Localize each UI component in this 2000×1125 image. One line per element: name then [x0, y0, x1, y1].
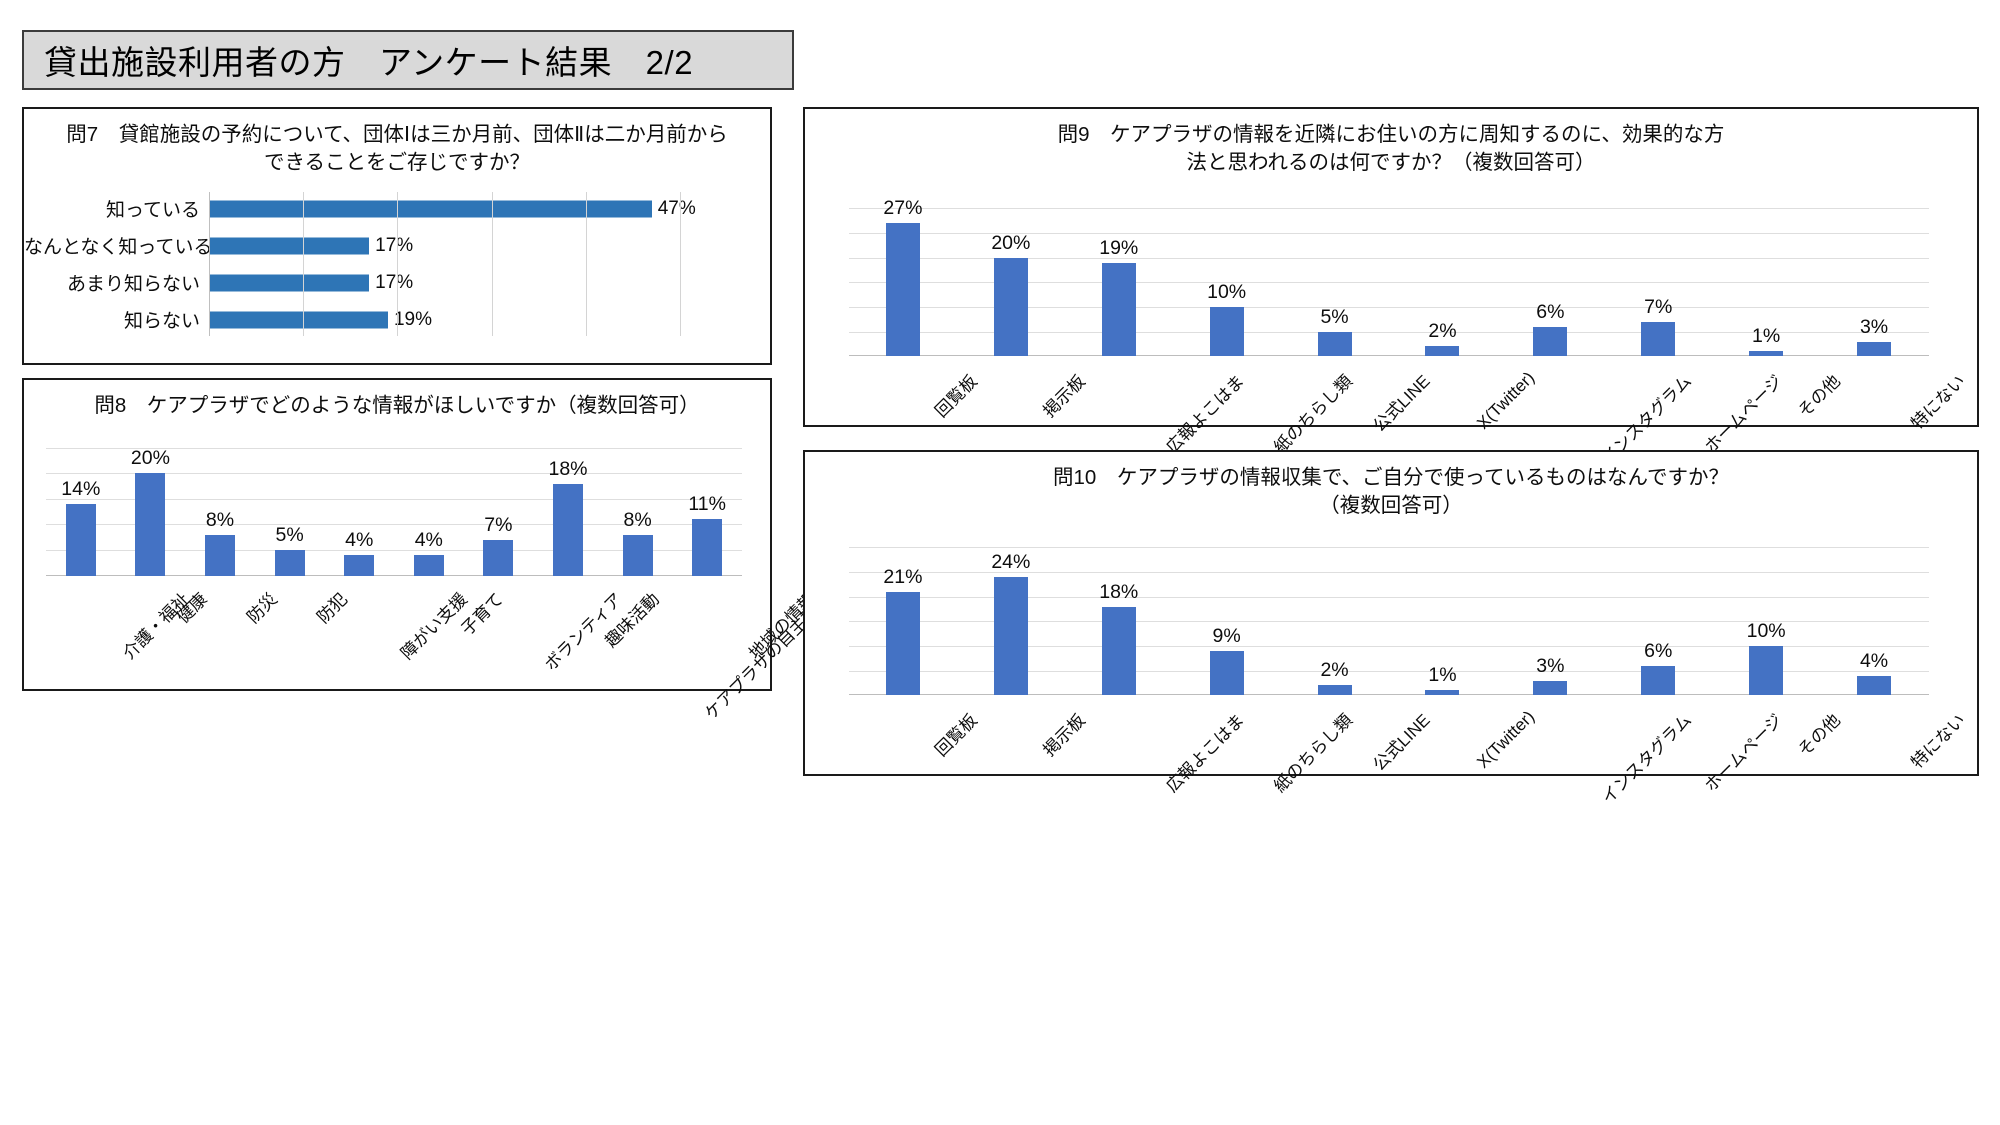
bar-value-label: 8% — [206, 509, 234, 532]
bar-track: 17% — [209, 227, 770, 264]
bar-category-label: ホームページ — [1698, 707, 1787, 796]
bar-category-label: 特にない — [1904, 368, 1970, 434]
chart-bar — [1102, 263, 1136, 357]
chart-bar-column: 10% — [1712, 547, 1820, 695]
bar-value-label: 19% — [1099, 237, 1138, 260]
page-title: 貸出施設利用者の方 アンケート結果 2/2 — [24, 36, 693, 84]
bar-value-label: 18% — [548, 458, 587, 481]
chart-bar-column: 10% — [1173, 208, 1281, 356]
bar-value-label: 3% — [1860, 316, 1888, 339]
bar-value-label: 4% — [345, 529, 373, 552]
chart-bar-column: 9% — [1173, 547, 1281, 695]
bar-value-label: 20% — [131, 447, 170, 470]
bar-value-label: 8% — [624, 509, 652, 532]
bar-category-label: X(Twitter) — [1474, 707, 1540, 773]
chart-bar — [275, 550, 305, 576]
gridline — [397, 192, 398, 336]
bar-category-label: X(Twitter) — [1474, 368, 1540, 434]
bar-category-label: 特にない — [1904, 707, 1970, 773]
bar-value-label: 6% — [1536, 301, 1564, 324]
bar-category-label: 広報よこはま — [1159, 707, 1249, 797]
bar-category-label: 紙のちらし類 — [1267, 707, 1357, 797]
bar-value-label: 3% — [1536, 655, 1564, 678]
chart-panel-q9: 問9 ケアプラザの情報を近隣にお住いの方に周知するのに、効果的な方 法と思われる… — [803, 107, 1979, 427]
chart-bar — [1318, 685, 1352, 695]
chart-bar-column: 4% — [324, 448, 394, 576]
chart-bar — [1102, 607, 1136, 696]
bar-value-label: 17% — [375, 235, 413, 257]
chart-bar-column: 18% — [533, 448, 603, 576]
chart-plot-q10: 21%24%18%9%2%1%3%6%10%4% — [849, 547, 1929, 695]
chart-bar-column: 19% — [1065, 208, 1173, 356]
chart-bar-column: 14% — [46, 448, 116, 576]
chart-bar-column: 8% — [185, 448, 255, 576]
chart-bar — [1533, 327, 1567, 357]
bar-value-label: 4% — [1860, 650, 1888, 673]
gridline — [680, 192, 681, 336]
bar-value-label: 4% — [415, 529, 443, 552]
bar-value-label: 21% — [883, 566, 922, 589]
chart-title-q8: 問8 ケアプラザでどのような情報がほしいですか（複数回答可） — [24, 380, 770, 420]
chart-plot-q8: 14%20%8%5%4%4%7%18%8%11% — [46, 448, 742, 576]
bar-category-label: 防犯 — [310, 586, 352, 628]
bar-category-label: その他 — [1791, 368, 1845, 422]
bar-track: 17% — [209, 264, 770, 301]
bar-category-label: その他 — [1791, 707, 1845, 761]
chart-panel-q7: 問7 貸館施設の予約について、団体Ⅰは三か月前、団体Ⅱは二か月前から できること… — [22, 107, 772, 365]
chart-bar-column: 5% — [1281, 208, 1389, 356]
chart-bar — [1857, 676, 1891, 696]
chart-title-q7: 問7 貸館施設の予約について、団体Ⅰは三か月前、団体Ⅱは二か月前から できること… — [24, 109, 770, 176]
chart-bar — [135, 473, 165, 575]
chart-bar-column: 7% — [1604, 208, 1712, 356]
chart-bar — [692, 519, 722, 575]
chart-bar — [483, 540, 513, 576]
chart-bar-column: 3% — [1820, 208, 1928, 356]
bar-value-label: 7% — [1644, 296, 1672, 319]
chart-bar — [1641, 666, 1675, 696]
bar-value-label: 9% — [1213, 625, 1241, 648]
chart-bar — [1210, 651, 1244, 695]
chart-plot-q7: 知っている47%なんとなく知っている17%あまり知らない17%知らない19% — [24, 190, 770, 338]
bar-category-label: 掲示板 — [1036, 368, 1090, 422]
chart-bar — [344, 555, 374, 575]
chart-bar — [886, 592, 920, 696]
bar-value-label: 10% — [1207, 281, 1246, 304]
page-title-banner: 貸出施設利用者の方 アンケート結果 2/2 — [22, 30, 794, 90]
chart-bar — [1641, 322, 1675, 357]
chart-bar — [1425, 690, 1459, 695]
chart-bar — [1533, 681, 1567, 696]
chart-bar-column: 8% — [603, 448, 673, 576]
chart-bar-column: 27% — [849, 208, 957, 356]
chart-bar — [994, 577, 1028, 695]
bar-value-label: 10% — [1747, 620, 1786, 643]
bar-category-label: 回覧板 — [928, 368, 982, 422]
chart-bar-column: 4% — [1820, 547, 1928, 695]
bar-category-label: 防災 — [240, 586, 282, 628]
bar-value-label: 2% — [1428, 320, 1456, 343]
bar-value-label: 19% — [394, 309, 432, 331]
chart-bar — [66, 504, 96, 576]
bar-category-label: 知らない — [24, 306, 209, 333]
bar-track: 47% — [209, 190, 770, 227]
chart-bar — [205, 535, 235, 576]
chart-bar — [1210, 307, 1244, 356]
chart-bar — [1318, 332, 1352, 357]
bar-category-label: 広報よこはま — [1159, 368, 1249, 458]
bar-value-label: 17% — [375, 272, 413, 294]
bar-category-label: 掲示板 — [1036, 707, 1090, 761]
chart-bar-column: 24% — [957, 547, 1065, 695]
bar-value-label: 1% — [1428, 664, 1456, 687]
bar-category-label: ホームページ — [1698, 368, 1787, 457]
bar-value-label: 24% — [991, 551, 1030, 574]
chart-bar-column: 6% — [1604, 547, 1712, 695]
bar-value-label: 11% — [688, 493, 726, 516]
chart-bar-column: 1% — [1389, 547, 1497, 695]
chart-bar-column: 5% — [255, 448, 325, 576]
bar-value-label: 2% — [1320, 659, 1348, 682]
chart-bar-column: 2% — [1281, 547, 1389, 695]
q7-value-axis — [209, 192, 210, 336]
chart-bar-column: 2% — [1389, 208, 1497, 356]
chart-bar-column: 11% — [672, 448, 742, 576]
bar-value-label: 1% — [1752, 325, 1780, 348]
bar-value-label: 20% — [991, 232, 1030, 255]
chart-bar-column: 6% — [1496, 208, 1604, 356]
chart-bar-column: 7% — [464, 448, 534, 576]
bar-category-label: なんとなく知っている — [24, 232, 209, 259]
bar-category-label: 公式LINE — [1366, 368, 1434, 436]
chart-bar — [553, 484, 583, 576]
chart-panel-q8: 問8 ケアプラザでどのような情報がほしいですか（複数回答可） 14%20%8%5… — [22, 378, 772, 691]
bar-category-label: インスタグラム — [1595, 707, 1696, 808]
bar-value-label: 5% — [276, 524, 304, 547]
chart-bar — [209, 237, 369, 254]
chart-bar-column: 18% — [1065, 547, 1173, 695]
bar-value-label: 5% — [1320, 306, 1348, 329]
chart-title-q9: 問9 ケアプラザの情報を近隣にお住いの方に周知するのに、効果的な方 法と思われる… — [805, 109, 1977, 176]
bar-value-label: 14% — [61, 478, 100, 501]
bar-value-label: 27% — [883, 197, 922, 220]
chart-bar — [886, 223, 920, 356]
bar-track: 19% — [209, 301, 770, 338]
bar-value-label: 6% — [1644, 640, 1672, 663]
chart-title-q10: 問10 ケアプラザの情報収集で、ご自分で使っているものはなんですか？ （複数回答… — [805, 452, 1977, 519]
gridline — [492, 192, 493, 336]
chart-bar — [1425, 346, 1459, 356]
chart-bar-column: 20% — [957, 208, 1065, 356]
chart-bar — [209, 274, 369, 291]
bar-category-label: 紙のちらし類 — [1267, 368, 1357, 458]
bar-category-label: 知っている — [24, 195, 209, 222]
chart-panel-q10: 問10 ケアプラザの情報収集で、ご自分で使っているものはなんですか？ （複数回答… — [803, 450, 1979, 776]
chart-bar — [1749, 351, 1783, 356]
chart-bar-column: 20% — [116, 448, 186, 576]
chart-plot-q9: 27%20%19%10%5%2%6%7%1%3% — [849, 208, 1929, 356]
chart-bar-column: 3% — [1496, 547, 1604, 695]
bar-value-label: 47% — [658, 198, 696, 220]
bar-category-label: 公式LINE — [1366, 707, 1434, 775]
bar-value-label: 18% — [1099, 581, 1138, 604]
chart-bar — [623, 535, 653, 576]
gridline — [586, 192, 587, 336]
bar-category-label: あまり知らない — [24, 269, 209, 296]
chart-bar-column: 21% — [849, 547, 957, 695]
chart-bar — [994, 258, 1028, 357]
chart-bar — [414, 555, 444, 575]
chart-bar — [209, 311, 388, 328]
chart-bar — [1857, 342, 1891, 357]
chart-bar-column: 1% — [1712, 208, 1820, 356]
chart-bar — [1749, 646, 1783, 695]
gridline — [303, 192, 304, 336]
bar-value-label: 7% — [484, 514, 512, 537]
chart-bar-column: 4% — [394, 448, 464, 576]
bar-category-label: 回覧板 — [928, 707, 982, 761]
